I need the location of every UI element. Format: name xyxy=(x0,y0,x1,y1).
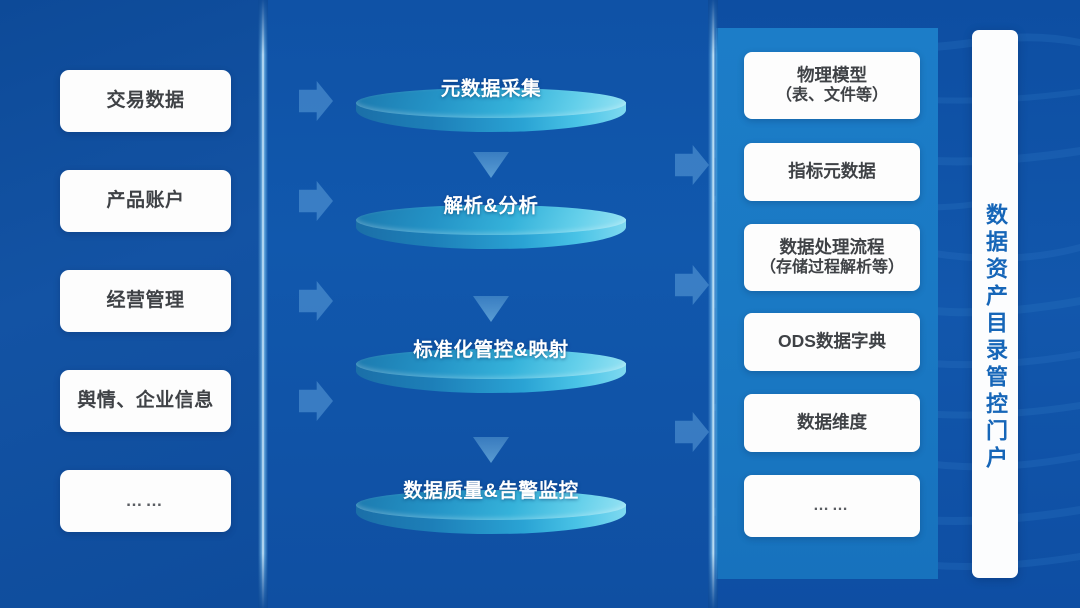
portal-label: 数据资产目录管控门户 xyxy=(979,203,1011,473)
output-label-line1: 物理模型 xyxy=(797,65,867,86)
output-box-3[interactable]: 数据处理流程 （存储过程解析等） xyxy=(744,224,920,291)
source-label: 交易数据 xyxy=(106,89,184,112)
output-box-6[interactable]: …… xyxy=(744,475,920,537)
pipeline-stage-label: 标准化管控&映射 xyxy=(356,333,626,362)
source-label: 经营管理 xyxy=(106,289,184,312)
source-label: 产品账户 xyxy=(106,189,184,212)
output-label-line2: （表、文件等） xyxy=(776,86,888,106)
output-label-line1: ODS数据字典 xyxy=(778,331,886,352)
output-box-1[interactable]: 物理模型 （表、文件等） xyxy=(744,52,920,119)
output-box-5[interactable]: 数据维度 xyxy=(744,394,920,452)
output-box-2[interactable]: 指标元数据 xyxy=(744,143,920,201)
output-label-line1: …… xyxy=(813,496,851,516)
pipeline-stage-2[interactable]: 解析&分析 xyxy=(356,205,626,259)
pipeline-stage-1[interactable]: 元数据采集 xyxy=(356,88,626,142)
source-box-2[interactable]: 产品账户 xyxy=(60,170,231,232)
output-label-line1: 数据维度 xyxy=(797,412,867,433)
divider-sources-pipeline xyxy=(258,0,268,608)
pipeline-stage-3[interactable]: 标准化管控&映射 xyxy=(356,349,626,403)
pipeline-stage-4[interactable]: 数据质量&告警监控 xyxy=(356,490,626,544)
source-box-5[interactable]: …… xyxy=(60,470,231,532)
output-label-line1: 指标元数据 xyxy=(788,161,876,182)
output-label-line1: 数据处理流程 xyxy=(780,237,885,258)
source-box-1[interactable]: 交易数据 xyxy=(60,70,231,132)
portal-bar[interactable]: 数据资产目录管控门户 xyxy=(972,30,1018,578)
pipeline-stage-label: 元数据采集 xyxy=(356,72,626,101)
diagram-canvas: 交易数据 产品账户 经营管理 舆情、企业信息 …… 元数据采集 解析&分析 xyxy=(0,0,1080,608)
pipeline-stage-label: 解析&分析 xyxy=(356,189,626,218)
divider-pipeline-outputs xyxy=(708,0,718,608)
source-label: 舆情、企业信息 xyxy=(77,389,214,412)
source-label: …… xyxy=(126,491,166,512)
source-box-3[interactable]: 经营管理 xyxy=(60,270,231,332)
source-box-4[interactable]: 舆情、企业信息 xyxy=(60,370,231,432)
pipeline-stage-label: 数据质量&告警监控 xyxy=(356,474,626,503)
output-label-line2: （存储过程解析等） xyxy=(760,258,904,278)
output-box-4[interactable]: ODS数据字典 xyxy=(744,313,920,371)
